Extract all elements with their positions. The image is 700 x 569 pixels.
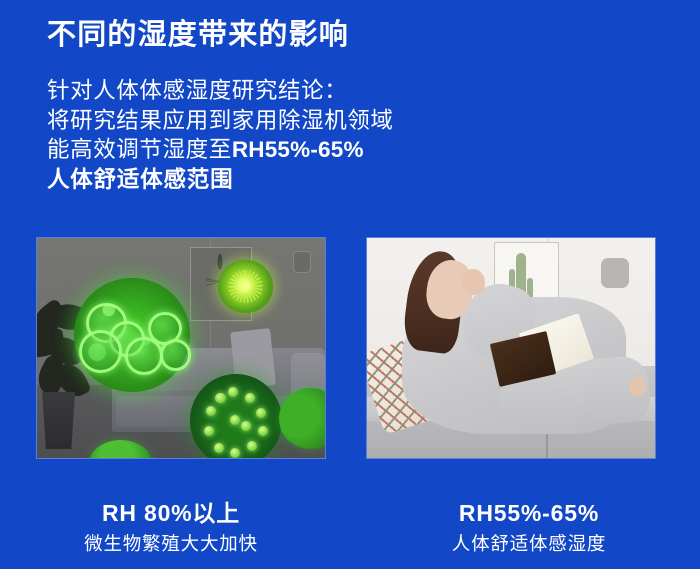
germ-dot xyxy=(230,448,240,458)
germ-dot xyxy=(230,415,240,425)
germ-dot xyxy=(258,426,268,436)
germ-dot xyxy=(215,393,225,403)
caption-right-title: RH55%-65% xyxy=(364,498,694,528)
germ-dot xyxy=(245,393,255,403)
bright-room-scene xyxy=(367,238,655,458)
wall-fixture xyxy=(293,251,311,273)
germ-cell xyxy=(79,330,122,373)
wall-speaker xyxy=(601,258,629,288)
humidity-comparison-poster: 不同的湿度带来的影响 针对人体体感湿度研究结论： 将研究结果应用到家用除湿机领域… xyxy=(0,0,700,569)
body-copy-block: 针对人体体感湿度研究结论： 将研究结果应用到家用除湿机领域 能高效调节湿度至RH… xyxy=(47,76,477,194)
photo-panel-comfort-humidity xyxy=(366,237,656,459)
germ-dot xyxy=(247,441,257,451)
dim-room-scene xyxy=(37,238,325,458)
body-line-3-emphasis: RH55%-65% xyxy=(232,137,364,162)
body-line-1: 针对人体体感湿度研究结论： xyxy=(47,76,477,106)
body-line-3-prefix: 能高效调节湿度至 xyxy=(47,137,232,162)
caption-high-humidity: RH 80%以上 微生物繁殖大大加快 xyxy=(6,498,336,558)
plant-pot xyxy=(40,392,77,449)
germ-dot xyxy=(204,426,214,436)
germ-dot xyxy=(228,387,238,397)
photo-panel-high-humidity xyxy=(36,237,326,459)
germ-dot xyxy=(256,408,266,418)
germ-dot xyxy=(214,443,224,453)
caption-left-title: RH 80%以上 xyxy=(6,498,336,528)
germ-sphere-large xyxy=(74,278,189,392)
caption-comfort-humidity: RH55%-65% 人体舒适体感湿度 xyxy=(364,498,694,558)
body-line-4: 人体舒适体感范围 xyxy=(47,165,477,195)
page-title: 不同的湿度带来的影响 xyxy=(47,18,349,53)
body-line-2: 将研究结果应用到家用除湿机领域 xyxy=(47,106,477,136)
body-line-3: 能高效调节湿度至RH55%-65% xyxy=(47,135,477,165)
germ-dot xyxy=(241,421,251,431)
caption-right-subtitle: 人体舒适体感湿度 xyxy=(364,530,694,558)
germ-cell xyxy=(160,339,191,370)
germ-dot xyxy=(206,406,216,416)
caption-left-subtitle: 微生物繁殖大大加快 xyxy=(6,530,336,558)
germ-sphere-small xyxy=(218,260,273,313)
germ-sphere-bottom xyxy=(190,374,282,458)
